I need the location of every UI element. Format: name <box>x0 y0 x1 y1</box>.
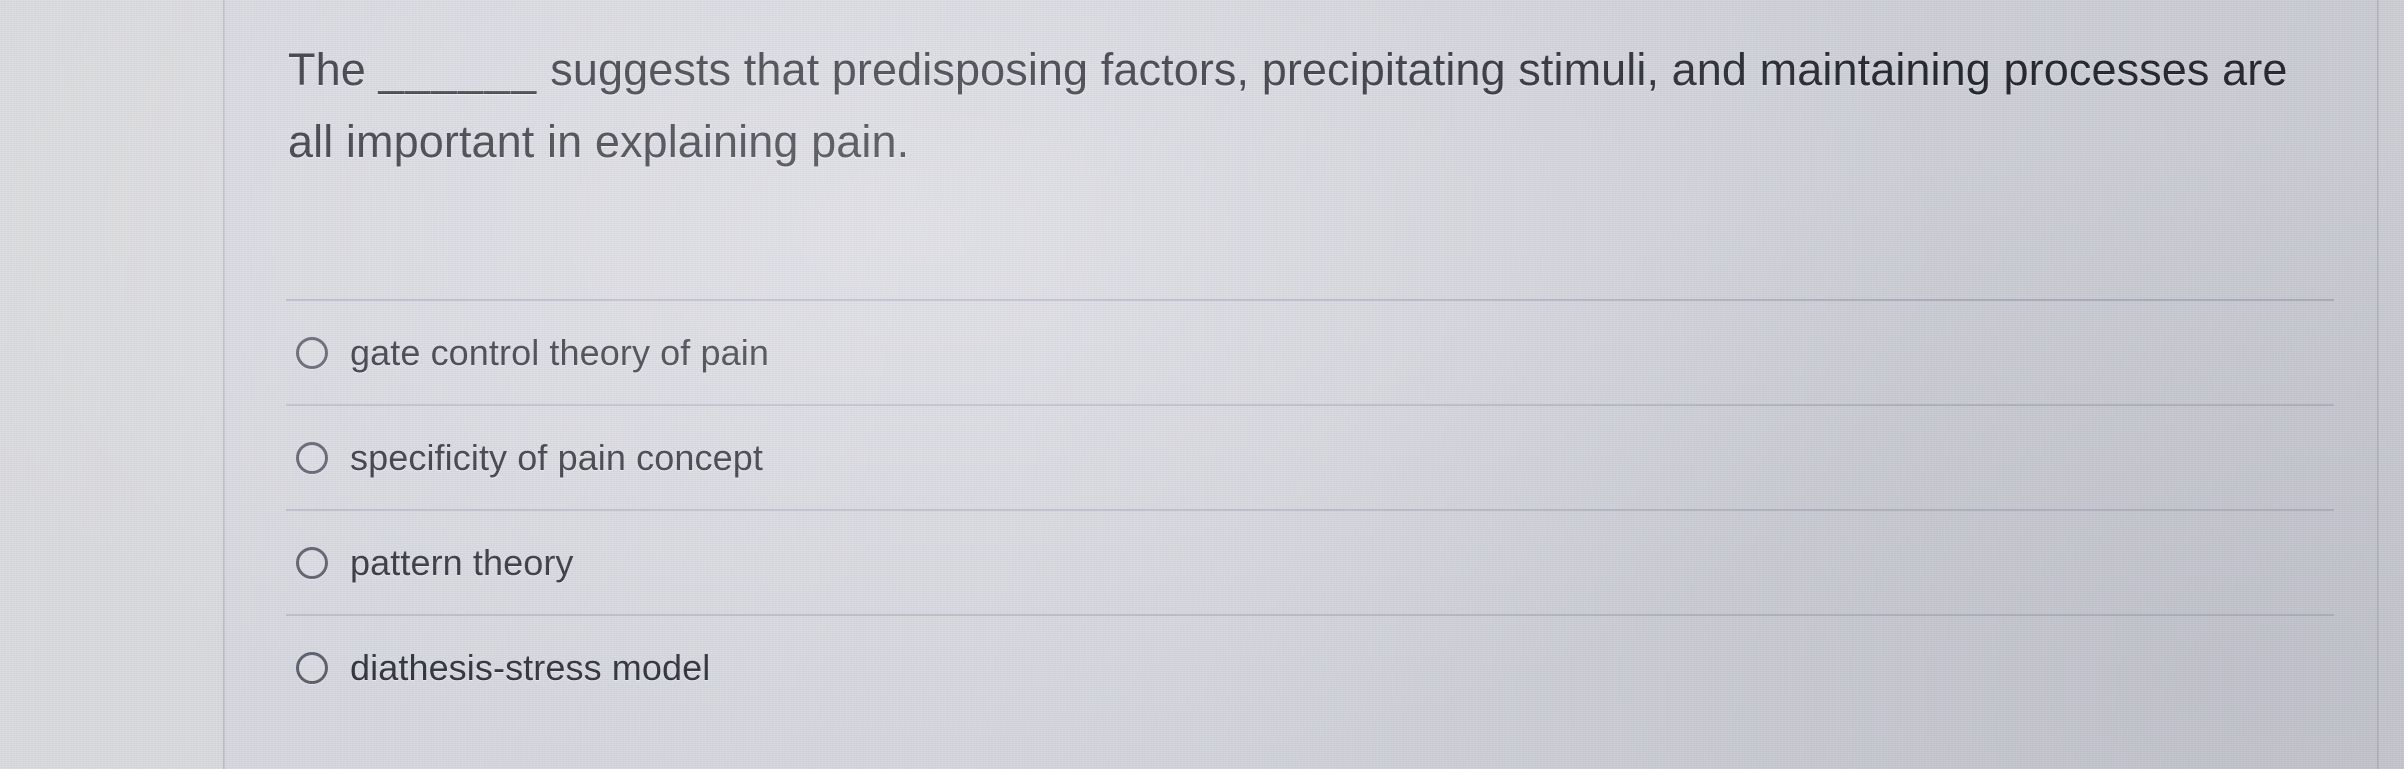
radio-button-icon[interactable] <box>296 337 328 369</box>
question-text-before-blank: The <box>288 44 378 95</box>
answer-option-label: pattern theory <box>350 543 574 583</box>
radio-button-icon[interactable] <box>296 547 328 579</box>
radio-button-icon[interactable] <box>296 652 328 684</box>
question-text-after-blank: suggests that predisposing factors, prec… <box>288 44 2300 167</box>
answer-option-label: gate control theory of pain <box>350 333 769 373</box>
answer-option-1[interactable]: gate control theory of pain <box>286 299 2334 404</box>
answer-option-2[interactable]: specificity of pain concept <box>286 404 2334 509</box>
answer-option-label: specificity of pain concept <box>350 438 763 478</box>
right-margin-panel <box>2379 0 2404 769</box>
left-gutter-panel <box>0 0 224 769</box>
answer-option-3[interactable]: pattern theory <box>286 509 2334 614</box>
answer-option-4[interactable]: diathesis-stress model <box>286 614 2334 719</box>
answer-options-list: gate control theory of pain specificity … <box>286 299 2334 719</box>
question-content-column: The ______ suggests that predisposing fa… <box>224 0 2378 769</box>
answer-option-label: diathesis-stress model <box>350 648 710 688</box>
question-stem: The ______ suggests that predisposing fa… <box>288 34 2338 178</box>
quiz-screen-photo: The ______ suggests that predisposing fa… <box>0 0 2404 769</box>
radio-button-icon[interactable] <box>296 442 328 474</box>
question-blank: ______ <box>378 44 537 95</box>
